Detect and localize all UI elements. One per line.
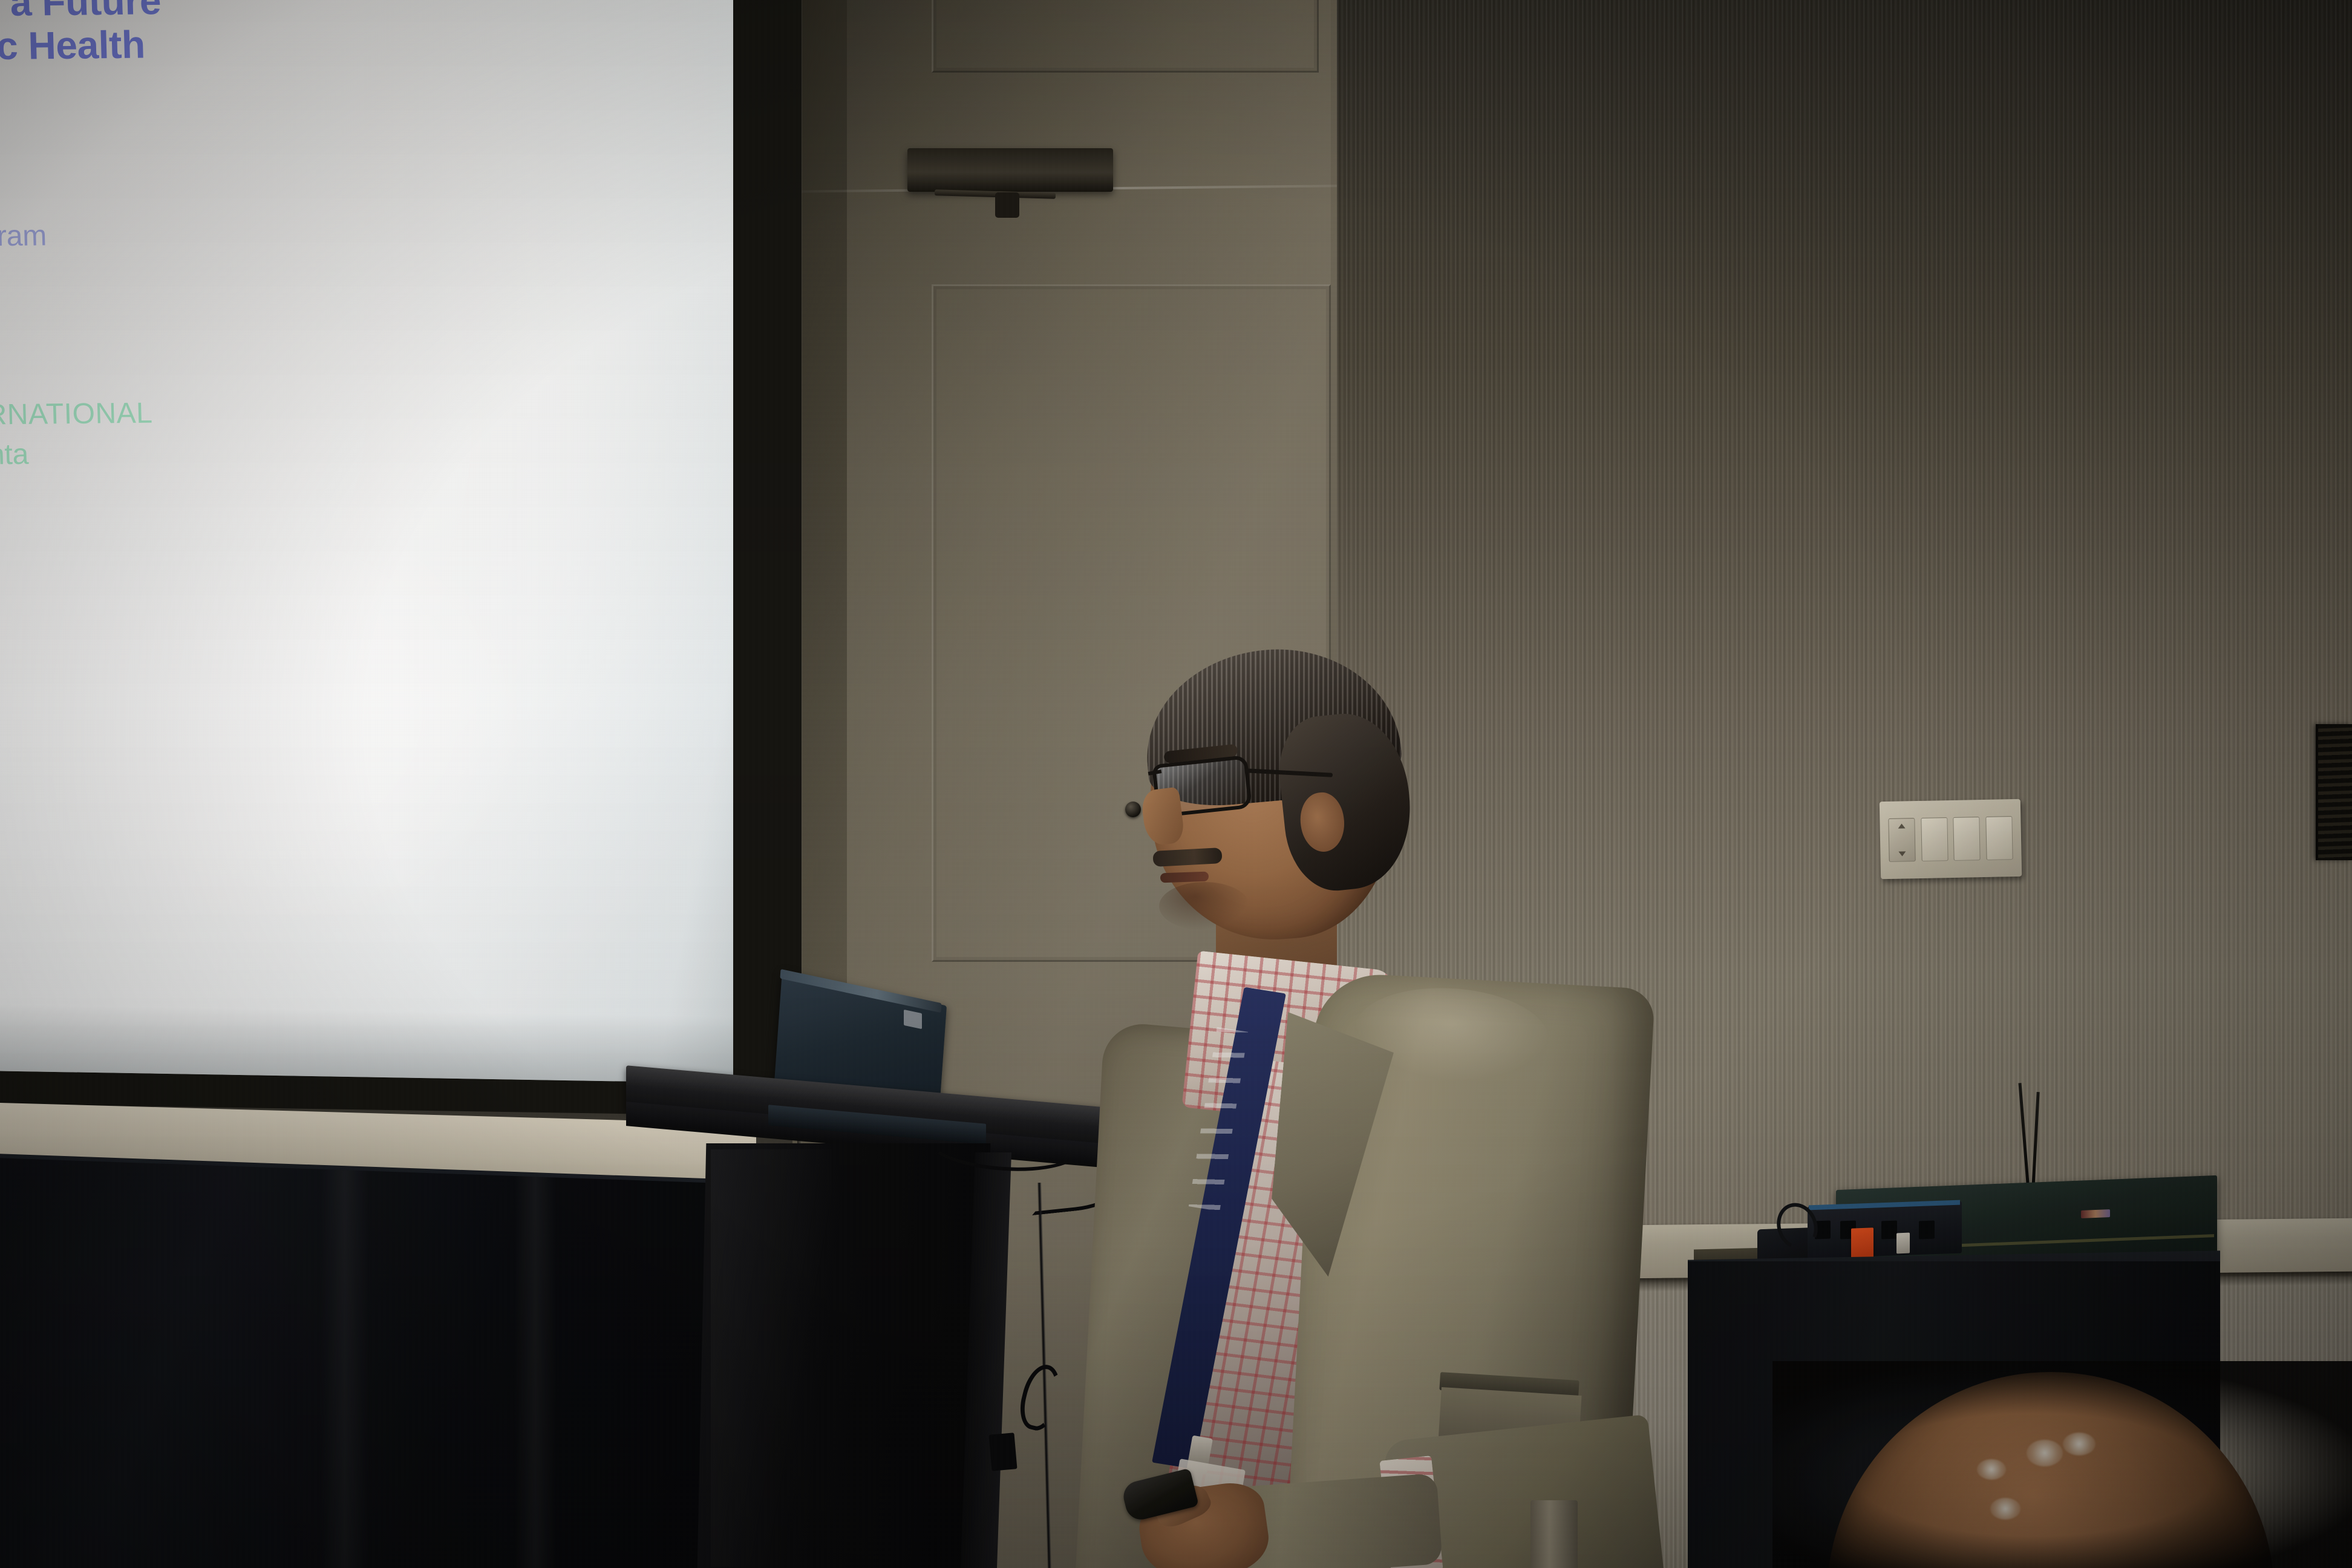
screen-projector-hotspot bbox=[0, 472, 526, 941]
light-switch-rocker-2[interactable] bbox=[1921, 817, 1948, 861]
orange-power-adapter bbox=[1851, 1227, 1873, 1259]
slide-title-line-2: n for Public Health bbox=[0, 19, 709, 68]
wall-speaker-grille-icon bbox=[2316, 724, 2352, 860]
slide-title-line-3: onse bbox=[0, 63, 710, 111]
presenter bbox=[1016, 641, 1670, 1568]
slide-content: eillance as a Future n for Public Health… bbox=[0, 0, 720, 477]
drape-fold bbox=[514, 1176, 557, 1568]
presenter-mouth bbox=[1160, 872, 1209, 883]
slide-footer-line-3: nference, Atlanta bbox=[0, 428, 720, 477]
door-closer-icon bbox=[907, 148, 1113, 192]
screen-bottom-shading bbox=[0, 1004, 733, 1083]
door-closer-pivot bbox=[995, 192, 1019, 218]
floor-stand bbox=[1530, 1500, 1578, 1568]
door-panel-molding-top bbox=[932, 0, 1319, 73]
dimmer-switch-icon[interactable] bbox=[1888, 818, 1915, 862]
presenter-chin-shadow bbox=[1159, 882, 1250, 930]
projection-screen: eillance as a Future n for Public Health… bbox=[0, 0, 733, 1083]
av-status-led bbox=[2081, 1209, 2110, 1218]
cable-clip bbox=[988, 1432, 1017, 1471]
lectern-front-highlight bbox=[711, 1149, 832, 1567]
presentation-photo-scene: eillance as a Future n for Public Health… bbox=[0, 0, 2352, 1568]
slide-body: dhayakumar rveillance Program r Global H… bbox=[0, 169, 720, 477]
light-switch-rocker-3[interactable] bbox=[1953, 817, 1981, 861]
drape-fold bbox=[321, 1169, 369, 1568]
light-switch-plate[interactable] bbox=[1880, 799, 2022, 879]
white-plug bbox=[1896, 1233, 1910, 1254]
power-socket bbox=[1919, 1221, 1935, 1240]
slide-title: eillance as a Future n for Public Health… bbox=[0, 0, 710, 111]
power-socket bbox=[1881, 1221, 1897, 1240]
left-table-drape bbox=[0, 1157, 735, 1568]
presenter-nose bbox=[1140, 786, 1186, 846]
foreground-shadow bbox=[1772, 1361, 2352, 1568]
light-switch-rocker-4[interactable] bbox=[1985, 816, 2013, 860]
